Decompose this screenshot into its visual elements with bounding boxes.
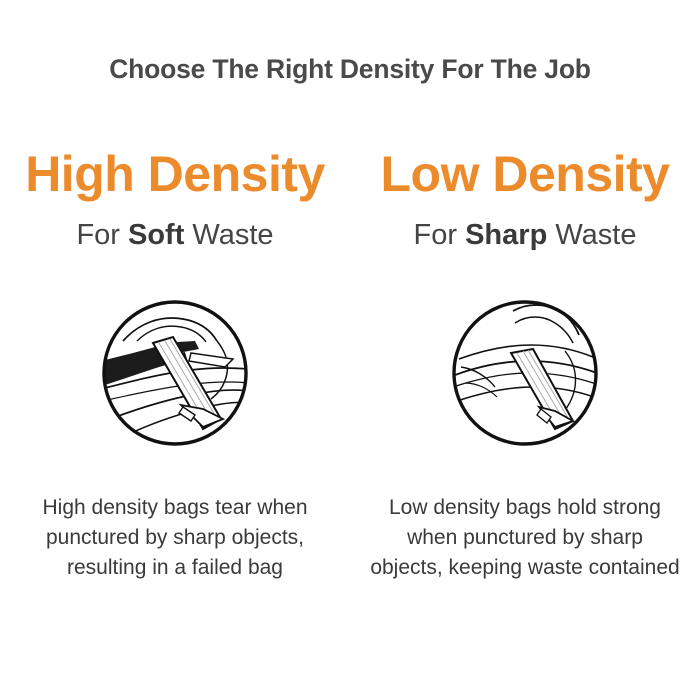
high-density-subtitle-suffix: Waste	[184, 219, 273, 251]
column-low-density: Low Density For Sharp Waste	[350, 145, 700, 583]
high-density-caption: High density bags tear when punctured by…	[20, 493, 330, 583]
high-density-subtitle: For Soft Waste	[76, 217, 273, 253]
high-density-subtitle-emphasis: Soft	[128, 219, 184, 251]
high-density-subtitle-prefix: For	[76, 219, 128, 251]
high-density-heading: High Density	[25, 145, 325, 203]
density-comparison-infographic: Choose The Right Density For The Job Hig…	[0, 0, 700, 700]
low-density-subtitle-prefix: For	[414, 219, 466, 251]
torn-bag-punctured-by-blade-illustration	[99, 297, 251, 449]
low-density-caption: Low density bags hold strong when punctu…	[370, 493, 680, 583]
intact-bag-resisting-blade-illustration	[449, 297, 601, 449]
low-density-subtitle: For Sharp Waste	[414, 217, 637, 253]
low-density-subtitle-emphasis: Sharp	[465, 219, 547, 251]
column-high-density: High Density For Soft Waste	[0, 145, 350, 583]
low-density-subtitle-suffix: Waste	[547, 219, 636, 251]
comparison-columns: High Density For Soft Waste	[0, 145, 700, 583]
page-title: Choose The Right Density For The Job	[0, 54, 700, 85]
low-density-heading: Low Density	[381, 145, 670, 203]
